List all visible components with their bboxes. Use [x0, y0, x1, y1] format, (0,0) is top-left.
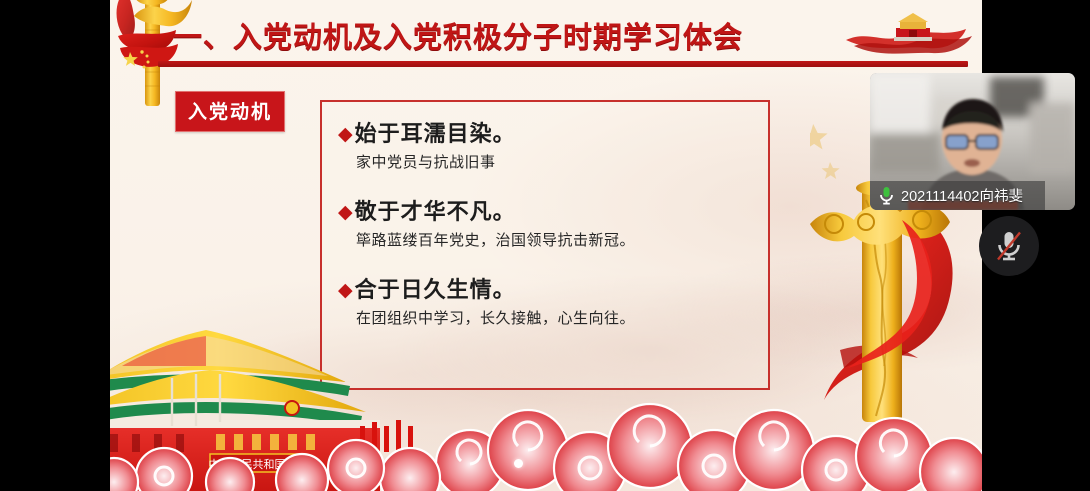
- participant-name: 2021114402向祎斐: [901, 185, 1023, 206]
- slide-title-bar: 一、入党动机及入党积极分子时期学习体会: [110, 0, 982, 70]
- bullet-heading: 敬于才华不凡。: [355, 194, 516, 226]
- bullet-heading-row: ◆ 敬于才华不凡。: [338, 194, 752, 226]
- bullet-heading-row: ◆ 合于日久生情。: [338, 272, 752, 304]
- auspicious-clouds-pattern: [110, 386, 982, 491]
- diamond-bullet-icon: ◆: [338, 281, 353, 300]
- tiananmen-emblem-icon: [840, 4, 980, 60]
- screen-share-viewport: 一、入党动机及入党积极分子时期学习体会 入党动机: [0, 0, 1090, 491]
- microphone-active-icon: [879, 186, 894, 205]
- participant-video-tile[interactable]: 2021114402向祎斐: [870, 73, 1075, 210]
- bullet-block: ◆ 敬于才华不凡。 筚路蓝缕百年党史，治国领导抗击新冠。: [338, 194, 752, 250]
- microphone-muted-icon: [994, 229, 1024, 263]
- bullet-detail: 家中党员与抗战旧事: [356, 151, 752, 172]
- diamond-bullet-icon: ◆: [338, 125, 353, 144]
- page-title: 一、入党动机及入党积极分子时期学习体会: [173, 14, 743, 56]
- section-tag: 入党动机: [175, 91, 285, 132]
- participant-name-strip: 2021114402向祎斐: [870, 181, 1045, 210]
- cursor-pointer: [514, 459, 523, 468]
- bullet-detail: 筚路蓝缕百年党史，治国领导抗击新冠。: [356, 229, 752, 250]
- presentation-slide: 一、入党动机及入党积极分子时期学习体会 入党动机: [110, 0, 982, 491]
- bullet-heading-row: ◆ 始于耳濡目染。: [338, 116, 752, 148]
- bullet-block: ◆ 始于耳濡目染。 家中党员与抗战旧事: [338, 116, 752, 172]
- bullet-heading: 始于耳濡目染。: [355, 116, 516, 148]
- title-underline: [158, 61, 968, 67]
- diamond-bullet-icon: ◆: [338, 203, 353, 222]
- mute-microphone-button[interactable]: [979, 216, 1039, 276]
- bullet-heading: 合于日久生情。: [355, 272, 516, 304]
